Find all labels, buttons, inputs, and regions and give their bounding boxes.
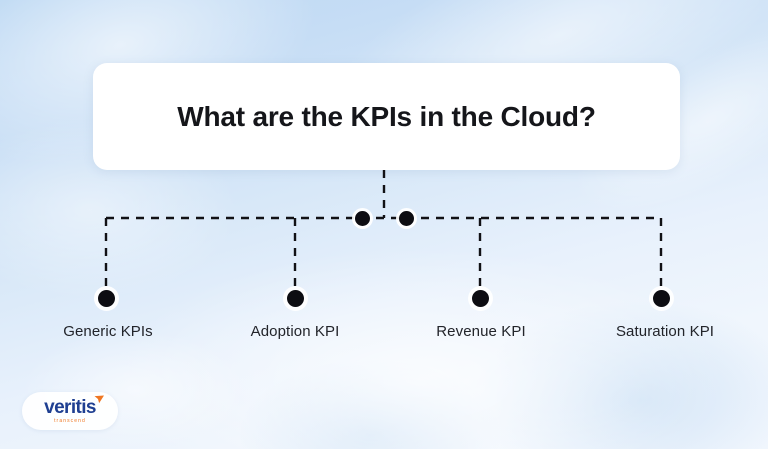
swoosh-icon [94, 395, 105, 404]
connector-lines [0, 0, 768, 449]
branch-label-adoption: Adoption KPI [251, 323, 340, 340]
veritis-logo: veritis transcend [22, 392, 118, 430]
branch-label-generic: Generic KPIs [63, 323, 153, 340]
branch-node-generic [98, 290, 115, 307]
logo-wordmark-row: veritis [44, 398, 96, 417]
branch-node-saturation [653, 290, 670, 307]
logo-tagline: transcend [54, 419, 86, 424]
branch-label-saturation: Saturation KPI [616, 323, 714, 340]
infographic-canvas: What are the KPIs in the Cloud? Generic … [0, 0, 768, 449]
logo-wordmark: veritis [44, 398, 96, 417]
branch-node-revenue [472, 290, 489, 307]
branch-node-adoption [287, 290, 304, 307]
hub-node-left [355, 211, 370, 226]
hub-node-right [399, 211, 414, 226]
branch-label-revenue: Revenue KPI [436, 323, 526, 340]
